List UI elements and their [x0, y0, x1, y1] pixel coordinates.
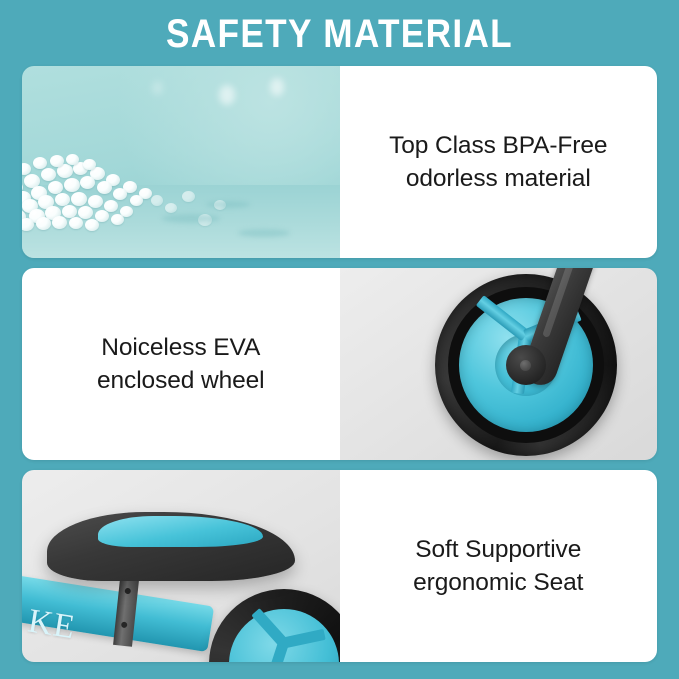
bike-seat-photo: KE [22, 470, 340, 662]
panel-ergonomic-seat-text: Soft Supportive ergonomic Seat [340, 470, 658, 662]
panel-eva-wheel-caption: Noiceless EVA enclosed wheel [83, 331, 279, 397]
page-title: SAFETY MATERIAL [41, 12, 639, 56]
panel-ergonomic-seat: KE Soft Supportive ergonomic Seat [22, 470, 657, 662]
bokeh-dot [152, 81, 163, 95]
hub-bolt [520, 360, 531, 371]
panel-bpa-free-caption: Top Class BPA-Free odorless material [375, 129, 621, 195]
panel-eva-wheel-text: Noiceless EVA enclosed wheel [22, 268, 340, 460]
panel-bpa-free: Top Class BPA-Free odorless material [22, 66, 657, 258]
rear-wheel-rim [229, 609, 339, 662]
rear-wheel [209, 589, 340, 662]
frame-brand-text: KE [26, 603, 79, 648]
panel-bpa-free-text: Top Class BPA-Free odorless material [340, 66, 658, 258]
pellet-pile [22, 112, 238, 231]
plastic-pellets-photo [22, 66, 340, 258]
bokeh-dot [219, 85, 235, 105]
wheel-assembly [435, 274, 617, 456]
safety-material-infographic: SAFETY MATERIAL [0, 0, 679, 679]
eva-wheel-photo [340, 268, 658, 460]
bokeh-dot [270, 78, 284, 96]
panel-eva-wheel: Noiceless EVA enclosed wheel [22, 268, 657, 460]
panel-ergonomic-seat-caption: Soft Supportive ergonomic Seat [399, 533, 597, 599]
